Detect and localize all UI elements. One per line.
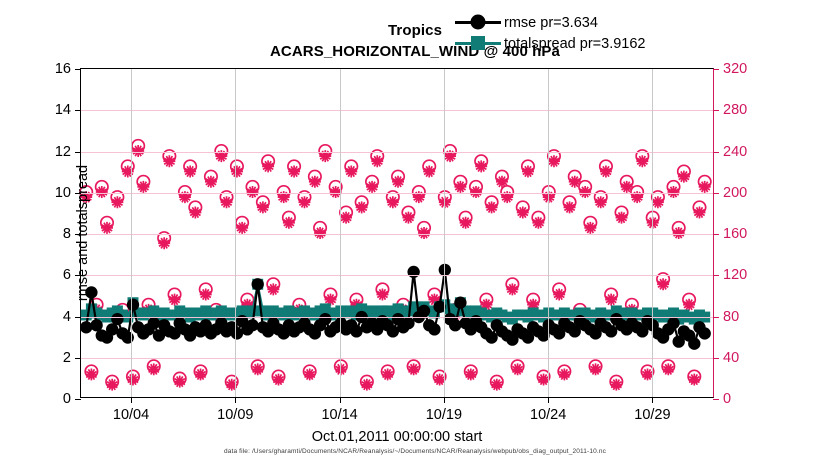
rmse-marker [319,313,331,325]
obs-assimilated-marker [517,207,529,219]
x-axis-tick [444,397,445,403]
right-axis-tick [713,69,719,70]
obs-assimilated-marker [335,363,347,375]
obs-assimilated-marker [678,171,690,183]
left-axis-label: rmse and totalspread [75,165,91,301]
right-axis-tick-label: 80 [723,309,739,325]
legend-item-totalspread[interactable]: totalspread pr=3.9162 [455,33,645,54]
obs-assimilated-marker [257,201,269,213]
plot-page: Tropics ACARS_HORIZONTAL_WIND @ 400 hPa … [0,0,830,470]
obs-assimilated-marker [340,212,352,224]
obs-assimilated-marker [231,166,243,178]
obs-assimilated-marker [314,227,326,239]
right-axis-tick-label: 0 [723,391,731,407]
obs-assimilated-marker [288,166,300,178]
obs-assimilated-marker [345,166,357,178]
vertical-gridline [235,69,236,397]
obs-assimilated-marker [512,363,524,375]
vertical-gridline [131,69,132,397]
obs-assimilated-marker [127,374,139,386]
obs-assimilated-marker [673,227,685,239]
obs-assimilated-marker [532,217,544,229]
x-axis-label: Oct.01,2011 00:00:00 start [81,429,713,445]
rmse-marker [80,321,92,333]
chart-legend: rmse pr=3.634 totalspread pr=3.9162 [455,12,645,54]
obs-assimilated-marker [600,166,612,178]
horizontal-gridline [81,234,713,235]
obs-assimilated-marker [85,368,97,380]
rmse-marker [454,297,466,309]
rmse-marker [688,338,700,350]
obs-assimilated-marker [522,166,534,178]
obs-assimilated-marker [200,289,212,301]
obs-assimilated-marker [558,368,570,380]
data-file-footer: data file: /Users/gharamti/Documents/NCA… [0,448,830,455]
obs-assimilated-marker [273,374,285,386]
obs-assimilated-marker [382,368,394,380]
obs-assimilated-marker [158,237,170,249]
x-axis-tick [652,397,653,403]
obs-assimilated-marker [195,368,207,380]
obs-assimilated-marker [221,196,233,208]
horizontal-gridline [81,152,713,153]
right-axis-tick [713,275,719,276]
right-axis-tick-label: 240 [723,144,747,160]
left-axis-tick [75,110,81,111]
legend-label-totalspread: totalspread pr=3.9162 [504,36,645,52]
circle-marker-icon [471,15,486,30]
right-axis-tick-label: 160 [723,226,747,242]
obs-assimilated-marker [184,166,196,178]
left-axis-tick-label: 2 [63,350,71,366]
left-axis-tick-label: 12 [55,144,71,160]
x-axis-tick [235,397,236,403]
obs-assimilated-marker [371,155,383,167]
obs-assimilated-marker [564,201,576,213]
obs-assimilated-marker [169,294,181,306]
obs-assimilated-marker [392,176,404,188]
rmse-marker [127,299,139,311]
rmse-marker [246,319,258,331]
obs-assimilated-marker [683,299,695,311]
rmse-marker [402,317,414,329]
rmse-marker [605,325,617,337]
obs-assimilated-marker [304,368,316,380]
right-axis-tick-label: 40 [723,350,739,366]
obs-assimilated-marker [309,176,321,188]
left-axis-tick-label: 0 [63,391,71,407]
obs-assimilated-marker [610,379,622,391]
x-axis-tick-label: 10/29 [634,407,670,423]
horizontal-gridline [81,193,713,194]
x-axis-tick [548,397,549,403]
legend-line-rmse [455,21,501,23]
obs-assimilated-marker [616,212,628,224]
left-axis-tick [75,358,81,359]
right-axis-tick-label: 320 [723,61,747,77]
obs-assimilated-marker [662,363,674,375]
totalspread-marker [247,305,258,316]
right-axis-tick-label: 200 [723,185,747,201]
right-axis-tick [713,152,719,153]
right-axis-tick [713,193,719,194]
obs-assimilated-marker [605,294,617,306]
obs-assimilated-marker [553,289,565,301]
obs-assimilated-marker [460,217,472,229]
obs-assimilated-marker [299,196,311,208]
obs-assimilated-marker [491,379,503,391]
rmse-marker [699,327,711,339]
obs-assimilated-marker [163,155,175,167]
obs-assimilated-marker [356,201,368,213]
obs-assimilated-marker [423,166,435,178]
obs-assimilated-marker [590,363,602,375]
obs-assimilated-marker [236,222,248,234]
obs-assimilated-marker [361,379,373,391]
left-axis-tick [75,152,81,153]
vertical-gridline [652,69,653,397]
obs-assimilated-marker [111,196,123,208]
x-axis-tick-label: 10/24 [530,407,566,423]
right-axis-tick [713,110,719,111]
obs-marker-group [80,140,711,391]
chart-title-region: Tropics [0,22,830,39]
chart-title-block: Tropics ACARS_HORIZONTAL_WIND @ 400 hPa [0,22,830,60]
obs-assimilated-marker [387,196,399,208]
obs-assimilated-marker [694,207,706,219]
rmse-marker [407,266,419,278]
obs-assimilated-marker [486,201,498,213]
chart-title-variable: ACARS_HORIZONTAL_WIND @ 400 hPa [0,43,830,60]
obs-assimilated-marker [688,374,700,386]
obs-assimilated-marker [636,155,648,167]
right-axis-tick [713,317,719,318]
obs-assimilated-marker [205,176,217,188]
legend-line-totalspread [455,42,501,44]
x-axis-tick-label: 10/14 [321,407,357,423]
rmse-marker [122,331,134,343]
obs-assimilated-marker [148,363,160,375]
vertical-gridline [340,69,341,397]
obs-assimilated-marker [652,196,664,208]
left-axis-tick [75,399,81,400]
obs-assimilated-marker [699,181,711,193]
legend-item-rmse[interactable]: rmse pr=3.634 [455,12,645,33]
obs-assimilated-marker [376,289,388,301]
obs-assimilated-marker [454,181,466,193]
obs-assimilated-marker [595,196,607,208]
rmse-marker [111,313,123,325]
rmse-marker [252,278,264,290]
obs-assimilated-marker [506,283,518,295]
horizontal-gridline [81,358,713,359]
obs-assimilated-marker [283,217,295,229]
obs-assimilated-marker [137,181,149,193]
rmse-marker [418,305,430,317]
left-axis-tick [75,69,81,70]
left-axis-tick [75,317,81,318]
obs-assimilated-marker [267,283,279,295]
obs-assimilated-marker [465,368,477,380]
x-axis-tick [131,397,132,403]
rmse-marker [148,317,160,329]
x-axis-tick [340,397,341,403]
left-axis-tick-label: 8 [63,226,71,242]
horizontal-gridline [81,317,713,318]
x-axis-tick-label: 10/04 [113,407,149,423]
obs-assimilated-marker [584,222,596,234]
obs-assimilated-marker [366,181,378,193]
right-axis-tick [713,234,719,235]
plot-area: 02468101214160408012016020024028032010/0… [80,68,714,398]
rmse-marker [428,323,440,335]
obs-assimilated-marker [402,212,414,224]
obs-assimilated-marker [548,155,560,167]
x-axis-tick-label: 10/19 [426,407,462,423]
left-axis-tick-label: 14 [55,102,71,118]
obs-assimilated-marker [106,379,118,391]
right-axis-tick [713,399,719,400]
right-axis-tick-label: 120 [723,267,747,283]
right-axis-tick-label: 280 [723,102,747,118]
obs-assimilated-marker [657,278,669,290]
rmse-marker [485,331,497,343]
horizontal-gridline [81,275,713,276]
left-axis-tick-label: 10 [55,185,71,201]
legend-label-rmse: rmse pr=3.634 [504,15,598,31]
plot-data-layer [81,69,713,397]
vertical-gridline [548,69,549,397]
horizontal-gridline [81,110,713,111]
rmse-marker [449,319,461,331]
obs-assimilated-marker [262,160,274,172]
rmse-marker [667,317,679,329]
left-axis-tick-label: 4 [63,309,71,325]
obs-assimilated-marker [101,222,113,234]
obs-assimilated-marker [174,376,186,388]
obs-assimilated-marker [252,363,264,375]
left-axis-tick-label: 6 [63,267,71,283]
obs-assimilated-marker [418,227,430,239]
obs-assimilated-marker [475,160,487,172]
left-axis-tick-label: 16 [55,61,71,77]
right-axis-tick [713,358,719,359]
vertical-gridline [444,69,445,397]
obs-assimilated-marker [189,207,201,219]
x-axis-tick-label: 10/09 [217,407,253,423]
obs-assimilated-marker [408,363,420,375]
square-marker-icon [471,36,485,50]
